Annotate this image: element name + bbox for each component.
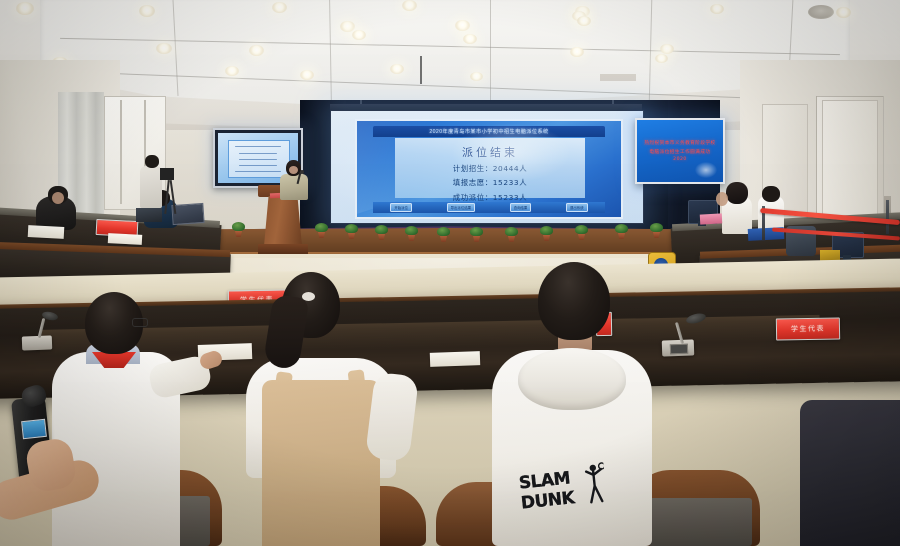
ceiling-downlight <box>463 34 477 44</box>
ceiling-downlight <box>340 21 355 32</box>
camera-operator-head <box>145 155 159 168</box>
slide-stat-label: 成功派位： <box>453 193 493 202</box>
stage-plant <box>315 223 328 238</box>
placard-label: 学生代表 <box>791 324 825 335</box>
stage-plant <box>470 227 483 242</box>
ceiling-downlight <box>455 20 470 31</box>
ceiling-vent <box>600 74 636 81</box>
projection-screen: 2020年度青岛市某市小学初中招生电脑派位系统 派位结束 计划招生：20444人… <box>330 110 644 224</box>
conference-hall-photo: 2020年度青岛市某市小学初中招生电脑派位系统 派位结束 计划招生：20444人… <box>0 0 900 546</box>
slide-stat-value: 15233人 <box>493 193 528 202</box>
staff-right-2-head <box>762 186 780 202</box>
slide-content-panel: 派位结束 计划招生：20444人 填报志愿：15233人 成功派位：15233人 <box>395 138 585 198</box>
led-glare <box>695 162 717 178</box>
paper-sheet <box>108 233 142 245</box>
slide-stat-row: 计划招生：20444人 <box>395 163 585 174</box>
slide-stat-row: 填报志愿：15233人 <box>395 177 585 188</box>
stage-plant <box>375 225 388 240</box>
student-middle-pinafore <box>262 380 380 546</box>
conference-microphone-display <box>670 344 688 355</box>
slide-toolbar: 开始派位 导出派位结果 查询结果 退出系统 <box>373 202 605 213</box>
monitor-small <box>136 208 162 222</box>
projector-cable <box>420 56 422 84</box>
staff-left-1-face <box>52 192 64 204</box>
stage-plant <box>575 225 588 240</box>
glasses-icon <box>132 318 148 327</box>
ceiling-downlight <box>710 4 724 14</box>
lottery-slide: 2020年度青岛市某市小学初中招生电脑派位系统 派位结束 计划招生：20444人… <box>355 119 623 219</box>
led-banner-line: 2020 <box>673 157 687 162</box>
ceiling-downlight <box>577 16 591 26</box>
staff-right-1-face <box>716 192 728 206</box>
slide-heading: 派位结束 <box>395 144 585 160</box>
stage-plant <box>650 223 663 238</box>
stage-plant <box>345 224 358 239</box>
rope-post <box>886 200 889 234</box>
student-right-head <box>538 262 610 340</box>
slide-stat-label: 计划招生： <box>453 164 493 173</box>
microphone-flag-badge <box>21 419 47 439</box>
speaker-person <box>278 160 308 200</box>
ceiling-downlight <box>390 64 404 74</box>
ceiling-downlight <box>655 54 668 63</box>
stage-plant <box>437 227 450 242</box>
slide-window-title: 2020年度青岛市某市小学初中招生电脑派位系统 <box>429 128 548 135</box>
basketball-player-icon <box>581 461 607 505</box>
camera-operator <box>140 166 162 208</box>
stage-plant <box>505 227 518 242</box>
person-right-edge <box>800 400 900 546</box>
podium-body <box>264 196 302 246</box>
ceiling-downlight <box>16 2 34 15</box>
ceiling-downlight <box>402 0 417 11</box>
folder-pink <box>700 213 722 224</box>
slide-button-exit-system[interactable]: 退出系统 <box>566 203 588 212</box>
ceiling-grid-line <box>490 0 491 108</box>
ceiling-downlight <box>570 47 584 57</box>
slide-stat-value: 15233人 <box>493 178 528 187</box>
video-camera <box>160 168 174 180</box>
led-banner: 热烈祝贺本市义务教育阶段学校 电脑派位招生工作圆满成功 2020 <box>635 118 725 184</box>
placard-student-rep-2: 学生代表 <box>776 317 840 340</box>
ceiling-downlight <box>272 2 287 13</box>
hair-tie <box>302 292 315 301</box>
speaker-torso <box>280 174 308 200</box>
paper-sheet <box>28 225 65 239</box>
window-mullion <box>120 100 122 204</box>
slide-button-start-lottery[interactable]: 开始派位 <box>390 203 412 212</box>
ceiling-downlight <box>249 45 264 56</box>
slide-stat-label: 填报志愿： <box>453 178 493 187</box>
ceiling-speaker-icon <box>808 5 834 19</box>
hoodie-hood <box>518 348 626 410</box>
ceiling-downlight <box>352 30 366 40</box>
stage-plant <box>232 222 245 237</box>
chair-seat <box>648 498 752 546</box>
ceiling-downlight <box>836 7 851 18</box>
led-banner-line: 电脑派位招生工作圆满成功 <box>649 149 710 155</box>
laptop[interactable] <box>171 203 204 225</box>
slide-button-query-results[interactable]: 查询结果 <box>510 203 532 212</box>
ceiling-downlight <box>225 66 239 76</box>
ceiling-downlight <box>139 5 155 17</box>
ceiling-downlight <box>470 72 483 81</box>
paper-sheet <box>430 351 480 367</box>
slide-stat-value: 20444人 <box>493 164 528 173</box>
ceiling-downlight <box>156 43 172 54</box>
stage-plant <box>405 226 418 241</box>
ceiling-downlight <box>660 44 674 54</box>
table-glare <box>40 315 820 356</box>
podium-microphone-head <box>300 170 304 174</box>
stage-plant <box>540 226 553 241</box>
stage-plant <box>615 224 628 239</box>
slide-stat-row: 成功派位：15233人 <box>395 192 585 203</box>
speaker-face <box>289 166 298 174</box>
staff-right-1-head <box>726 182 748 204</box>
led-banner-line: 热烈祝贺本市义务教育阶段学校 <box>644 140 715 146</box>
conference-microphone-base[interactable] <box>22 335 52 350</box>
slide-button-export-results[interactable]: 导出派位结果 <box>447 203 475 212</box>
ceiling-downlight <box>300 70 314 80</box>
slide-title-bar: 2020年度青岛市某市小学初中招生电脑派位系统 <box>373 126 605 137</box>
